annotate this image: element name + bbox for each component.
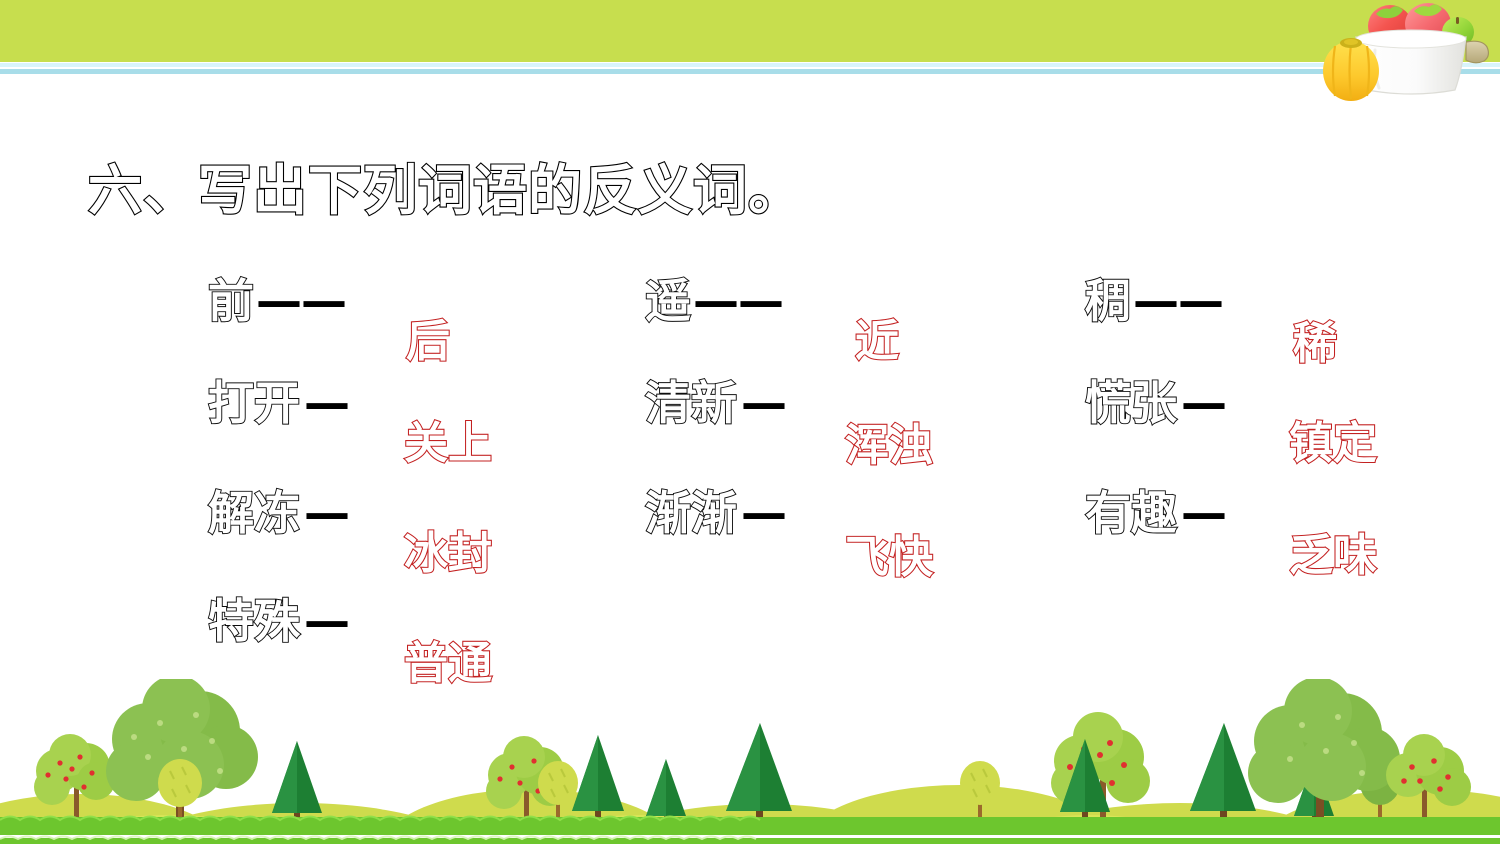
term-text: 遥 <box>645 278 691 324</box>
grass-strip-upper <box>0 817 1500 835</box>
answer-text: 后 <box>406 320 450 364</box>
term-text: 前 <box>208 278 254 324</box>
slide-root: 六、写出下列词语的反义词。 前 —— 后 打开 — 关上 解冻 — 冰封 特殊 … <box>0 0 1500 844</box>
dash-line: —— <box>256 278 346 324</box>
dash-line: — <box>1181 490 1226 536</box>
term-text: 打开 <box>208 380 300 426</box>
answer-text: 冰封 <box>404 532 492 576</box>
term-text: 特殊 <box>208 598 300 644</box>
dash-line: — <box>304 380 349 426</box>
antonym-grid: 前 —— 后 打开 — 关上 解冻 — 冰封 特殊 — 普通 遥 <box>0 258 1500 678</box>
dash-line: — <box>741 490 786 536</box>
term-text: 清新 <box>645 380 737 426</box>
answer-text: 镇定 <box>1289 422 1377 466</box>
top-cyan-line <box>0 63 1500 67</box>
answer-text: 浑浊 <box>845 424 933 468</box>
hills-trees-landscape-icon <box>0 679 1500 844</box>
dash-line: —— <box>693 278 783 324</box>
term-text: 渐渐 <box>645 490 737 536</box>
answer-text: 稀 <box>1293 322 1337 366</box>
top-blue-line <box>0 69 1500 74</box>
answer-text: 飞快 <box>845 536 933 580</box>
term-text: 解冻 <box>208 490 300 536</box>
dash-line: — <box>304 598 349 644</box>
dash-line: — <box>741 380 786 426</box>
dash-line: — <box>1181 380 1226 426</box>
dash-line: — <box>304 490 349 536</box>
page-title: 六、写出下列词语的反义词。 <box>88 160 803 222</box>
fruit-basket-icon <box>1318 0 1500 106</box>
dash-line: —— <box>1133 278 1223 324</box>
answer-text: 近 <box>855 320 899 364</box>
answer-text: 乏味 <box>1289 534 1377 578</box>
term-text: 慌张 <box>1085 380 1177 426</box>
term-text: 有趣 <box>1085 490 1177 536</box>
term-text: 稠 <box>1085 278 1131 324</box>
grass-strip-lower <box>0 838 1500 844</box>
top-green-band <box>0 0 1500 62</box>
answer-text: 关上 <box>404 422 492 466</box>
